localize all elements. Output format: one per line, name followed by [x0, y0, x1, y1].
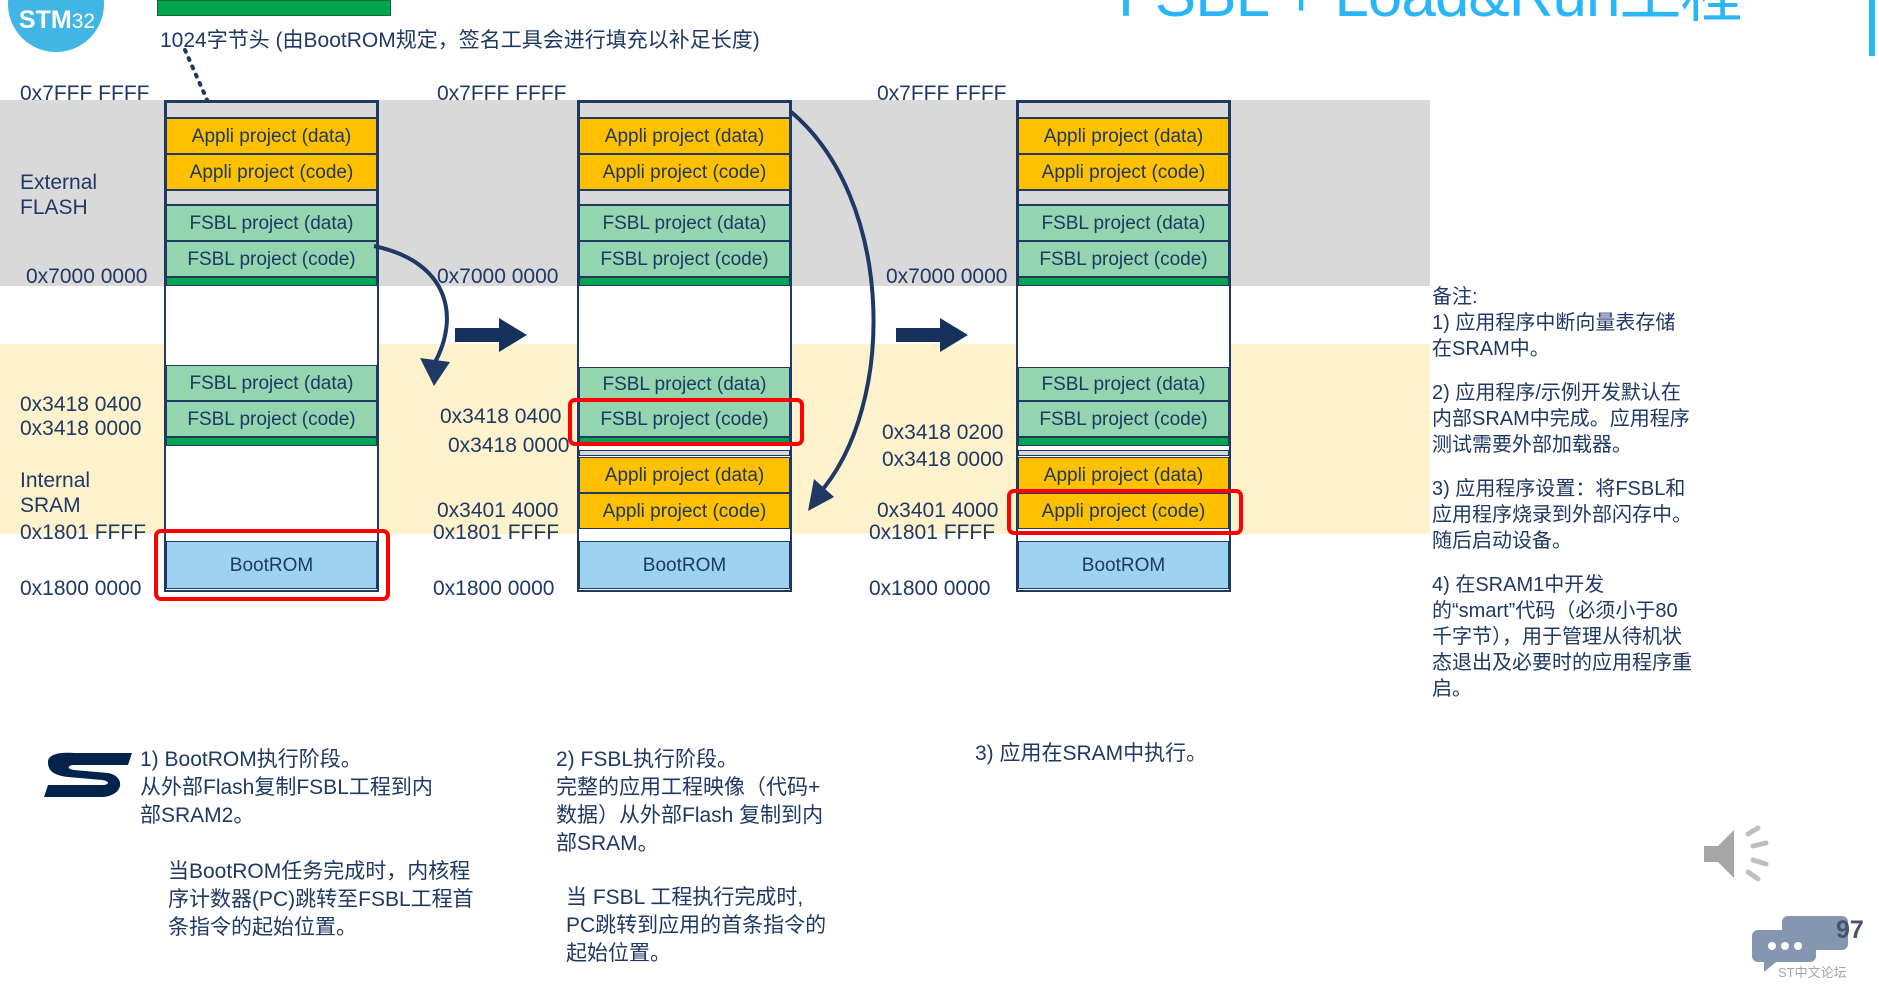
caption-step-2b: 当 FSBL 工程执行完成时, PC跳转到应用的首条指令的 起始位置。: [566, 884, 966, 968]
col2-addr-sram-b: 0x3418 0000: [448, 434, 569, 458]
col3-appli-data: Appli project (data): [1018, 118, 1229, 154]
col3-fsbl-code: FSBL project (code): [1018, 241, 1229, 277]
col1-sram-header-line: [166, 437, 377, 446]
col2-addr-sram-c: 0x3401 4000: [437, 499, 558, 523]
col2-appli-code: Appli project (code): [579, 154, 790, 190]
col1-addr-flash-top: 0x7FFF FFFF: [20, 82, 150, 106]
page-title: FSBL + Load&Run工程: [1118, 0, 1879, 28]
col3-addr-rom-base: 0x1800 0000: [869, 577, 990, 601]
col2-fsbl-data: FSBL project (data): [579, 205, 790, 241]
col2-flash-gap-mid: [579, 190, 790, 205]
col2-fsbl-code: FSBL project (code): [579, 241, 790, 277]
col1-sram-fsbl-code: FSBL project (code): [166, 401, 377, 437]
col1-appli-data: Appli project (data): [166, 118, 377, 154]
caption-step-2: 2) FSBL执行阶段。 完整的应用工程映像（代码+ 数据）从外部Flash 复…: [556, 746, 956, 858]
st-logo: [44, 752, 136, 798]
col3-sram-gap: [1018, 450, 1229, 456]
col1-fsbl-data: FSBL project (data): [166, 205, 377, 241]
title-accent-bar: [1869, 0, 1875, 56]
external-flash-label: ExternalFLASH: [20, 170, 97, 220]
col1-addr-sram-a: 0x3418 0400: [20, 393, 141, 417]
forum-label: ST中文论坛: [1778, 962, 1847, 981]
header-caption: 1024字节头 (由BootROM规定，签名工具会进行填充以补足长度): [160, 24, 980, 54]
col2-addr-sram-a: 0x3418 0400: [440, 405, 561, 429]
col2-fsbl-code-highlight: [568, 398, 804, 446]
col3-fsbl-data: FSBL project (data): [1018, 205, 1229, 241]
col2-addr-flash-top: 0x7FFF FFFF: [437, 82, 567, 106]
col2-flash-gap-top: [579, 102, 790, 118]
col3-appli-code: Appli project (code): [1018, 154, 1229, 190]
col2-sram-fsbl-data: FSBL project (data): [579, 367, 790, 401]
col1-sram-fsbl-data: FSBL project (data): [166, 365, 377, 401]
notes-panel: 备注: 1) 应用程序中断向量表存储在SRAM中。 2) 应用程序/示例开发默认…: [1432, 284, 1692, 720]
stm32-badge-label: STM32: [13, 6, 101, 35]
caption-step-1: 1) BootROM执行阶段。 从外部Flash复制FSBL工程到内 部SRAM…: [140, 746, 540, 830]
note-4: 4) 在SRAM1中开发的“smart”代码（必须小于80千字节），用于管理从待…: [1432, 572, 1692, 702]
col3-sram-fsbl-data: FSBL project (data): [1018, 367, 1229, 401]
col3-appli-code-highlight: [1007, 489, 1243, 535]
notes-heading: 备注:: [1432, 284, 1692, 310]
col3-addr-sram-a: 0x3418 0200: [882, 421, 1003, 445]
col1-flash-header-line: [166, 277, 377, 286]
col3-addr-sram-c: 0x3401 4000: [877, 499, 998, 523]
col3-addr-sram-b: 0x3418 0000: [882, 448, 1003, 472]
col2-bootrom: BootROM: [579, 541, 790, 589]
col1-addr-flash-base: 0x7000 0000: [26, 265, 147, 289]
page-number: 97: [1836, 916, 1864, 945]
col1-flash-gap-top: [166, 102, 377, 118]
col3-sram-appli-data: Appli project (data): [1018, 457, 1229, 493]
col3-flash-header-line: [1018, 277, 1229, 286]
col3-addr-rom-top: 0x1801 FFFF: [869, 521, 995, 545]
col3-flash-gap-top: [1018, 102, 1229, 118]
internal-sram-label: InternalSRAM: [20, 468, 90, 518]
col1-addr-sram-b: 0x3418 0000: [20, 417, 141, 441]
col1-bootrom-highlight: [154, 529, 390, 601]
col2-appli-data: Appli project (data): [579, 118, 790, 154]
col2-addr-rom-top: 0x1801 FFFF: [433, 521, 559, 545]
col3-bootrom: BootROM: [1018, 541, 1229, 589]
note-1: 1) 应用程序中断向量表存储在SRAM中。: [1432, 310, 1692, 362]
brand-name-sub: 32: [72, 10, 95, 33]
header-green-bar: [157, 0, 391, 16]
col3-flash-gap-mid: [1018, 190, 1229, 205]
brand-name-main: STM: [19, 6, 72, 34]
note-2: 2) 应用程序/示例开发默认在内部SRAM中完成。应用程序测试需要外部加载器。: [1432, 380, 1692, 458]
col3-addr-flash-base: 0x7000 0000: [886, 265, 1007, 289]
col2-flash-header-line: [579, 277, 790, 286]
col2-addr-rom-base: 0x1800 0000: [433, 577, 554, 601]
caption-step-3: 3) 应用在SRAM中执行。: [975, 740, 1375, 768]
col2-sram-gap: [579, 450, 790, 456]
col2-addr-flash-base: 0x7000 0000: [437, 265, 558, 289]
speaker-icon: [1700, 824, 1778, 884]
col1-appli-code: Appli project (code): [166, 154, 377, 190]
transition-arrow-2: [896, 318, 968, 352]
col1-fsbl-code: FSBL project (code): [166, 241, 377, 277]
col3-sram-header-line: [1018, 437, 1229, 446]
col2-sram-appli-code: Appli project (code): [579, 493, 790, 529]
transition-arrow-1: [455, 318, 527, 352]
col1-addr-rom-base: 0x1800 0000: [20, 577, 141, 601]
col3-sram-fsbl-code: FSBL project (code): [1018, 401, 1229, 437]
note-3: 3) 应用程序设置：将FSBL和应用程序烧录到外部闪存中。随后启动设备。: [1432, 476, 1692, 554]
caption-step-1b: 当BootROM任务完成时，内核程 序计数器(PC)跳转至FSBL工程首 条指令…: [168, 858, 568, 942]
col1-addr-rom-top: 0x1801 FFFF: [20, 521, 146, 545]
col3-addr-flash-top: 0x7FFF FFFF: [877, 82, 1007, 106]
col2-sram-appli-data: Appli project (data): [579, 457, 790, 493]
col1-flash-gap-mid: [166, 190, 377, 205]
